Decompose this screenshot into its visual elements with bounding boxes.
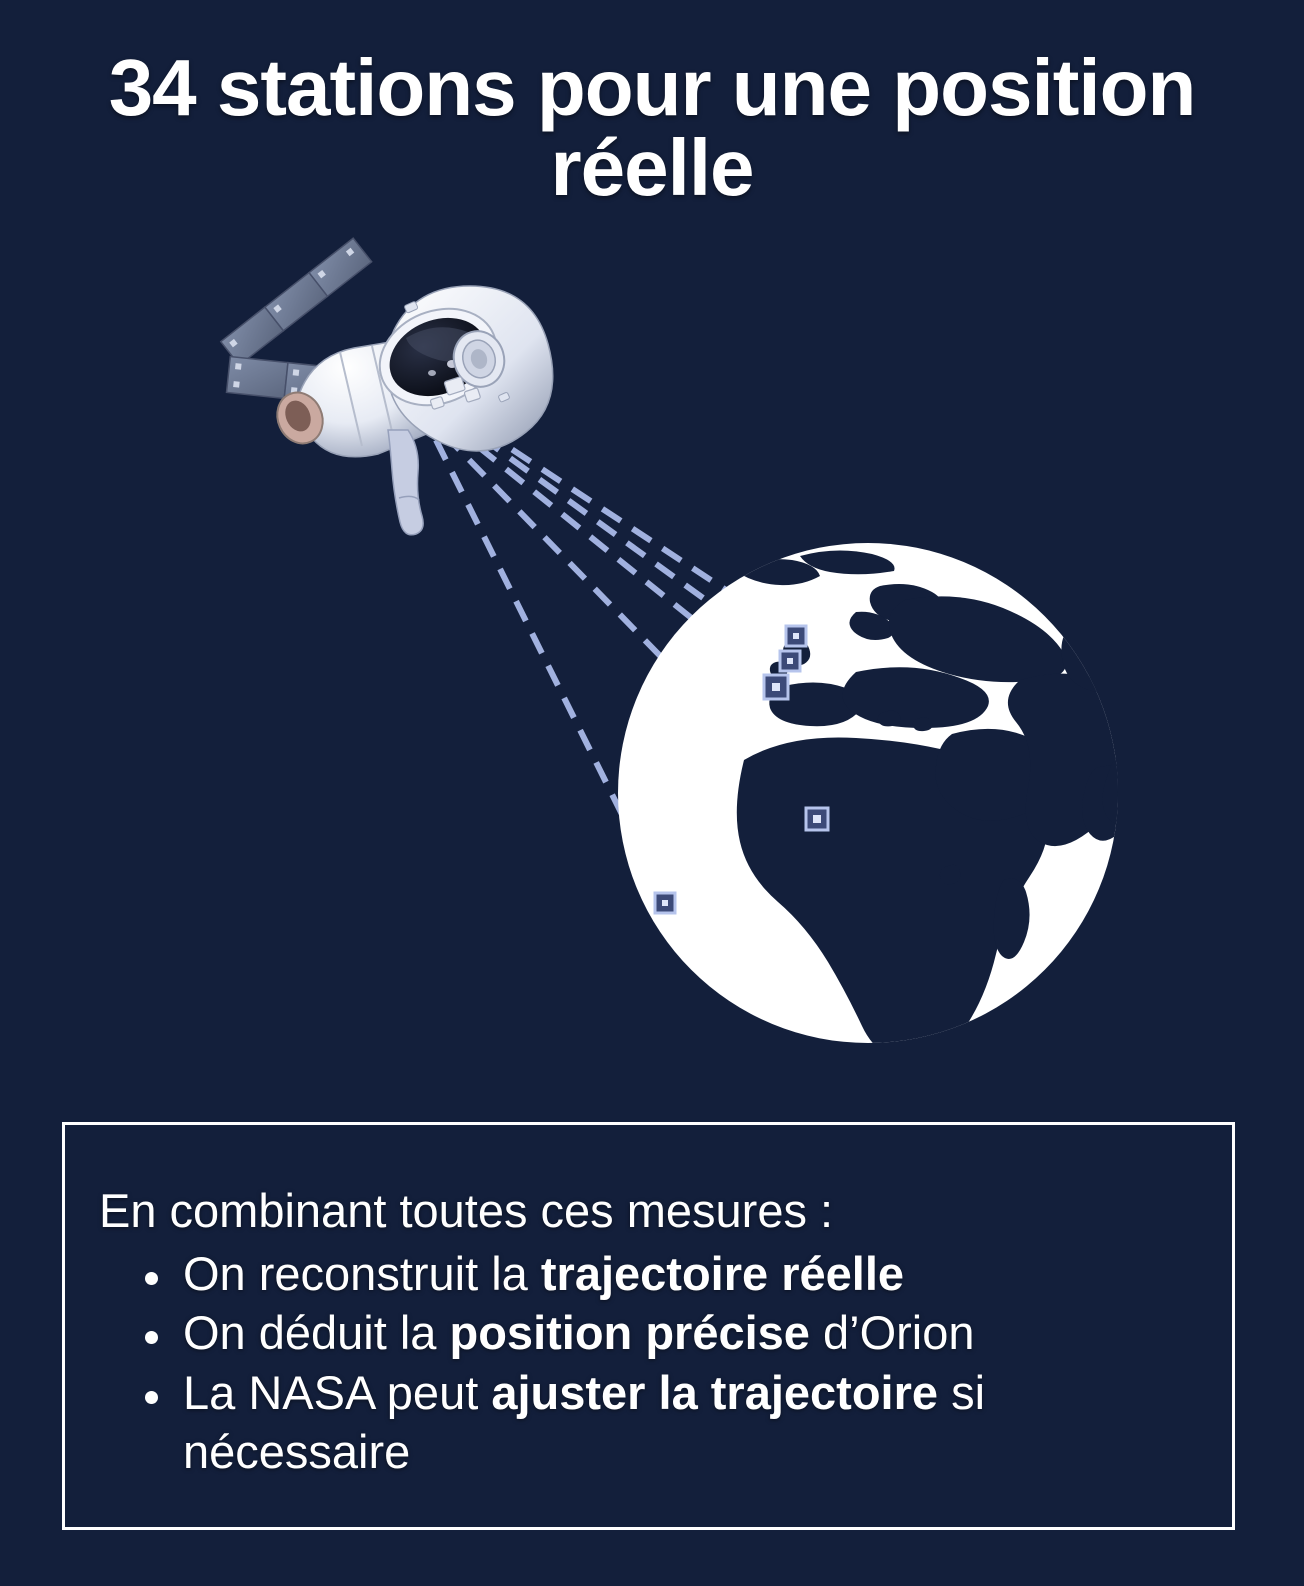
list-item-emphasis: ajuster la trajectoire — [491, 1366, 938, 1419]
list-item: On déduit la position précise d’Orion — [99, 1303, 1212, 1362]
list-item-emphasis: trajectoire réelle — [541, 1247, 904, 1300]
summary-lead: En combinant toutes ces mesures : — [99, 1181, 1212, 1240]
summary-text: En combinant toutes ces mesures : On rec… — [99, 1181, 1212, 1481]
list-item-emphasis: position précise — [450, 1306, 810, 1359]
antenna-boom — [388, 430, 423, 535]
orion-tracking-illustration — [0, 0, 1304, 1100]
infographic-page: 34 stations pour une position réelle — [0, 0, 1304, 1586]
ground-station-marker — [764, 675, 788, 699]
ground-station-marker — [806, 808, 828, 830]
list-item-post: d’Orion — [810, 1306, 975, 1359]
list-item-pre: On reconstruit la — [183, 1247, 541, 1300]
list-item: On reconstruit la trajectoire réelle — [99, 1244, 1212, 1303]
ground-station-marker — [786, 626, 806, 646]
solar-panel-array — [221, 238, 372, 365]
list-item-pre: La NASA peut — [183, 1366, 491, 1419]
list-item: La NASA peut ajuster la trajectoire si n… — [99, 1363, 1212, 1481]
summary-list: On reconstruit la trajectoire réelle On … — [99, 1244, 1212, 1481]
ground-station-marker — [780, 651, 800, 671]
list-item-pre: On déduit la — [183, 1306, 450, 1359]
ground-station-marker — [655, 893, 675, 913]
summary-box: En combinant toutes ces mesures : On rec… — [62, 1122, 1235, 1530]
earth-globe — [618, 543, 1153, 1060]
